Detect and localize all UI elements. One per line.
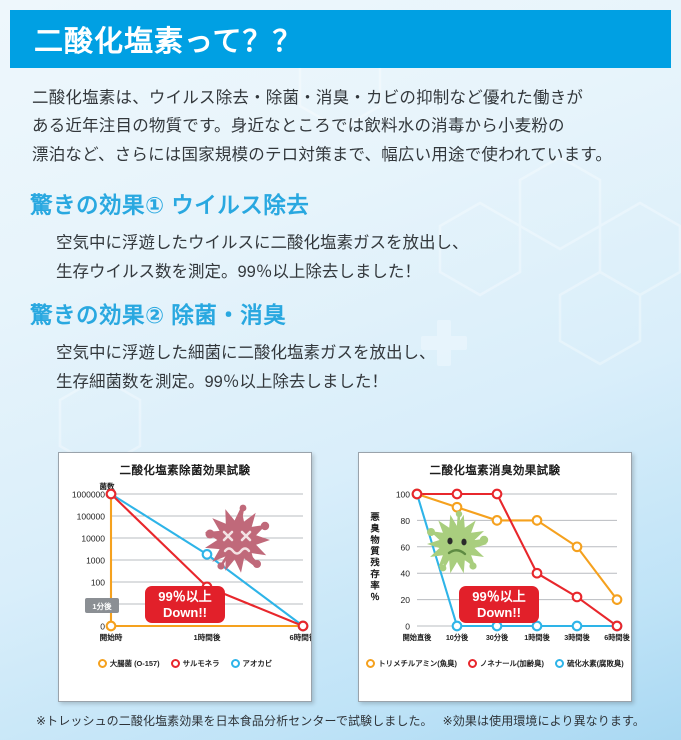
sterilization-chart-svg: 0101001000100001000001000000菌数開始時1時間後6時間…: [59, 478, 311, 656]
x-tick-label: 30分後: [486, 633, 509, 642]
data-point-red: [613, 622, 622, 631]
y-tick-label: 10000: [81, 534, 105, 544]
legend-label: 硫化水素(腐敗臭): [567, 658, 624, 669]
effect-2-line-1: 空気中に浮遊した細菌に二酸化塩素ガスを放出し、: [56, 339, 650, 368]
effect-2-heading: 驚きの効果② 除菌・消臭: [30, 298, 650, 330]
footnote-note-2: ※効果は使用環境により異なります。: [443, 714, 645, 728]
x-tick-label: 開始直後: [403, 633, 433, 642]
data-point-red: [413, 490, 422, 499]
page-root: 二酸化塩素って？？ 二酸化塩素は、ウイルス除去・除菌・消臭・カビの抑制など優れた…: [0, 0, 681, 740]
y-tick-label: 100: [91, 578, 105, 588]
x-tick-label: 1時間後: [193, 632, 220, 642]
data-point-red: [453, 490, 462, 499]
svg-text:99％以上: 99％以上: [158, 589, 211, 604]
x-tick-label: 3時間後: [564, 633, 590, 642]
legend-marker-icon: [171, 659, 180, 668]
plot-area-deodorization: 020406080100悪臭物質残存率％開始直後10分後30分後1時間後3時間後…: [359, 478, 631, 656]
x-tick-label: 10分後: [446, 633, 469, 642]
chart-title-sterilization: 二酸化塩素除菌効果試験: [59, 462, 311, 478]
x-tick-label: 開始時: [100, 632, 123, 642]
data-point-orange: [493, 516, 502, 525]
y-tick-label: 80: [401, 516, 411, 526]
y-axis-label-char: 存: [370, 568, 380, 579]
data-point-blue: [203, 550, 212, 559]
legend-deodorization: トリメチルアミン(魚臭)ノネナール(加齢臭)硫化水素(腐敗臭): [359, 658, 631, 669]
header-bar: 二酸化塩素って？？: [10, 10, 671, 68]
y-tick-label: 1000000: [72, 490, 105, 500]
effect-block-2: 驚きの効果② 除菌・消臭 空気中に浮遊した細菌に二酸化塩素ガスを放出し、 生存細…: [30, 298, 650, 397]
data-point-red: [107, 490, 116, 499]
data-point-orange: [573, 543, 582, 552]
y-axis-label-char: 悪: [370, 512, 380, 522]
data-point-orange: [107, 622, 116, 631]
legend-label: サルモネラ: [183, 658, 220, 669]
intro-line-3: 漂泊など、さらには国家規模のテロ対策まで、幅広い用途で使われています。: [32, 141, 657, 169]
y-axis-label-char: 率: [370, 579, 380, 590]
y-tick-label: 20: [401, 595, 411, 605]
footnote: ※トレッシュの二酸化塩素効果を日本食品分析センターで試験しました。※効果は使用環…: [0, 712, 681, 729]
data-point-blue: [453, 622, 462, 631]
data-point-red: [533, 569, 542, 578]
data-point-orange: [613, 595, 622, 604]
legend-label: トリメチルアミン(魚臭): [378, 658, 457, 669]
y-axis-label-char: 質: [370, 545, 379, 556]
chart-card-deodorization: 二酸化塩素消臭効果試験 020406080100悪臭物質残存率％開始直後10分後…: [358, 452, 632, 702]
legend-marker-icon: [231, 659, 240, 668]
svg-text:99％以上: 99％以上: [472, 589, 525, 604]
plot-area-sterilization: 0101001000100001000001000000菌数開始時1時間後6時間…: [59, 478, 311, 656]
legend-marker-icon: [468, 659, 477, 668]
legend-marker-icon: [555, 659, 564, 668]
x-tick-label: 6時間後: [604, 633, 630, 642]
legend-item: ノネナール(加齢臭): [468, 658, 544, 669]
deodorization-chart-svg: 020406080100悪臭物質残存率％開始直後10分後30分後1時間後3時間後…: [359, 478, 631, 656]
y-tick-label: 100000: [77, 512, 106, 522]
intro-line-2: ある近年注目の物質です。身近なところでは飲料水の消毒から小麦粉の: [32, 112, 657, 140]
effect-1-heading: 驚きの効果① ウイルス除去: [30, 188, 650, 220]
one-minute-tag: 1分後: [85, 598, 119, 613]
effect-2-line-2: 生存細菌数を測定。99％以上除去しました！: [56, 368, 650, 397]
data-point-red: [573, 593, 582, 602]
y-axis-label-char: 残: [370, 557, 380, 568]
legend-item: サルモネラ: [171, 658, 220, 669]
germ-mascot-red: [205, 505, 270, 573]
effect-block-1: 驚きの効果① ウイルス除去 空気中に浮遊したウイルスに二酸化塩素ガスを放出し、 …: [30, 188, 650, 287]
x-tick-label: 1時間後: [524, 633, 550, 642]
y-tick-label: 1000: [86, 556, 105, 566]
legend-sterilization: 大腸菌 (O-157)サルモネラアオカビ: [59, 658, 311, 669]
legend-label: 大腸菌 (O-157): [110, 658, 160, 669]
svg-text:Down!!: Down!!: [477, 605, 521, 620]
x-tick-label: 6時間後: [289, 632, 311, 642]
data-point-red: [299, 622, 308, 631]
data-point-orange: [533, 516, 542, 525]
y-tick-label: 0: [405, 622, 410, 632]
effect-1-line-2: 生存ウイルス数を測定。99％以上除去しました！: [56, 258, 650, 287]
data-point-orange: [453, 503, 462, 512]
effect-1-line-1: 空気中に浮遊したウイルスに二酸化塩素ガスを放出し、: [56, 229, 650, 258]
footnote-note-1: ※トレッシュの二酸化塩素効果を日本食品分析センターで試験しました。: [36, 714, 433, 728]
page-title: 二酸化塩素って？？: [10, 18, 303, 60]
y-tick-label: 100: [396, 490, 410, 500]
y-tick-label: 0: [100, 622, 105, 632]
legend-marker-icon: [366, 659, 375, 668]
legend-item: 硫化水素(腐敗臭): [555, 658, 624, 669]
legend-label: アオカビ: [243, 658, 273, 669]
legend-marker-icon: [98, 659, 107, 668]
legend-item: トリメチルアミン(魚臭): [366, 658, 457, 669]
down-badge: 99％以上Down!!: [145, 586, 225, 623]
y-axis-label-char: ％: [370, 592, 379, 602]
data-point-blue: [533, 622, 542, 631]
svg-text:Down!!: Down!!: [163, 605, 207, 620]
y-tick-label: 40: [401, 569, 411, 579]
legend-item: アオカビ: [231, 658, 273, 669]
data-point-red: [493, 490, 502, 499]
intro-line-1: 二酸化塩素は、ウイルス除去・除菌・消臭・カビの抑制など優れた働きが: [32, 84, 657, 112]
y-tick-label: 60: [401, 542, 411, 552]
y-axis-label-char: 物: [370, 534, 380, 545]
intro-paragraph: 二酸化塩素は、ウイルス除去・除菌・消臭・カビの抑制など優れた働きが ある近年注目…: [32, 84, 657, 169]
y-axis-label-char: 臭: [370, 522, 380, 533]
legend-item: 大腸菌 (O-157): [98, 658, 160, 669]
chart-card-sterilization: 二酸化塩素除菌効果試験 0101001000100001000001000000…: [58, 452, 312, 702]
data-point-blue: [573, 622, 582, 631]
effect-1-body: 空気中に浮遊したウイルスに二酸化塩素ガスを放出し、 生存ウイルス数を測定。99％…: [56, 229, 650, 287]
svg-text:1分後: 1分後: [92, 601, 112, 611]
chart-title-deodorization: 二酸化塩素消臭効果試験: [359, 462, 631, 478]
legend-label: ノネナール(加齢臭): [480, 658, 544, 669]
effect-2-body: 空気中に浮遊した細菌に二酸化塩素ガスを放出し、 生存細菌数を測定。99％以上除去…: [56, 339, 650, 397]
down-badge: 99％以上Down!!: [459, 586, 539, 623]
